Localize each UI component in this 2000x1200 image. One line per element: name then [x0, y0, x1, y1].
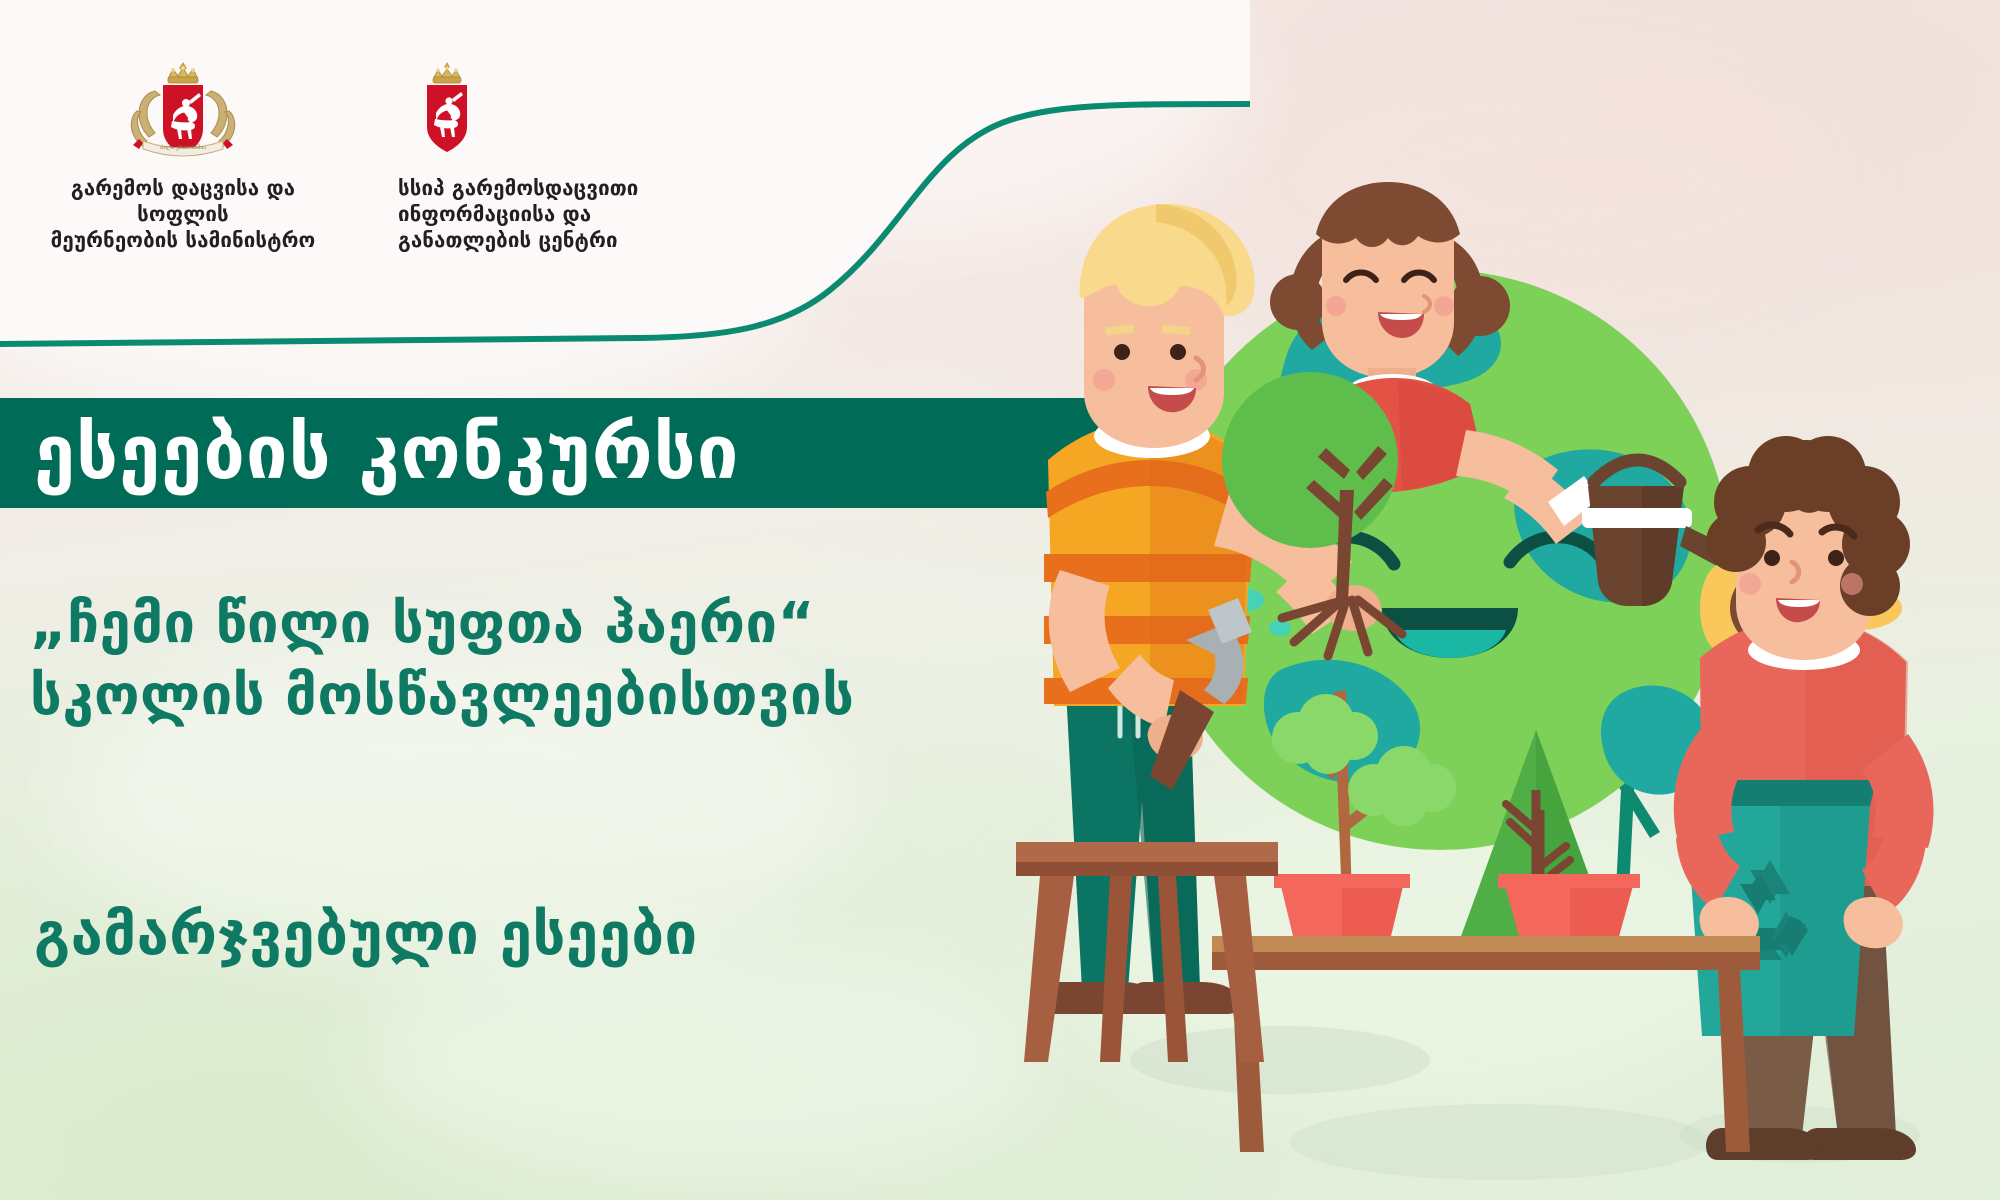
georgia-coat-of-arms-full-icon: ძალა ერთობაშია: [109, 55, 257, 163]
center-logo-caption-line3: განათლების ცენტრი: [398, 227, 638, 253]
logo-row: ძალა ერთობაშია გარემოს დაცვისა და სოფლის…: [0, 55, 728, 254]
ministry-logo-caption-line2: მეურნეობის სამინისტრო: [38, 227, 328, 253]
center-logo-caption-line1: სსიპ გარემოსდაცვითი: [398, 175, 638, 201]
children-caring-for-earth-illustration: [980, 130, 2000, 1200]
ministry-logo-block: ძალა ერთობაშია გარემოს დაცვისა და სოფლის…: [38, 55, 328, 254]
center-logo-caption: სსიპ გარემოსდაცვითი ინფორმაციისა და განა…: [398, 175, 638, 254]
boy-holding-recycling-bin: [1674, 436, 1934, 1160]
wooden-stool: [1016, 842, 1278, 1062]
ministry-logo-caption-line1: გარემოს დაცვისა და სოფლის: [38, 175, 328, 227]
bottom-heading: გამარჯვებული ესეები: [34, 900, 698, 968]
table-shadow: [1290, 1104, 1710, 1180]
page-title: ესეების კონკურსი: [34, 416, 739, 490]
georgia-small-shield-crest-icon: [398, 55, 478, 163]
title-banner: ესეების კონკურსი: [0, 398, 1124, 508]
svg-text:ძალა ერთობაშია: ძალა ერთობაშია: [160, 144, 206, 151]
center-logo-caption-line2: ინფორმაციისა და: [398, 201, 638, 227]
ministry-logo-caption: გარემოს დაცვისა და სოფლის მეურნეობის სამ…: [38, 175, 328, 254]
center-logo-block: სსიპ გარემოსდაცვითი ინფორმაციისა და განა…: [398, 55, 728, 254]
banner-root: ძალა ერთობაშია გარემოს დაცვისა და სოფლის…: [0, 0, 2000, 1200]
